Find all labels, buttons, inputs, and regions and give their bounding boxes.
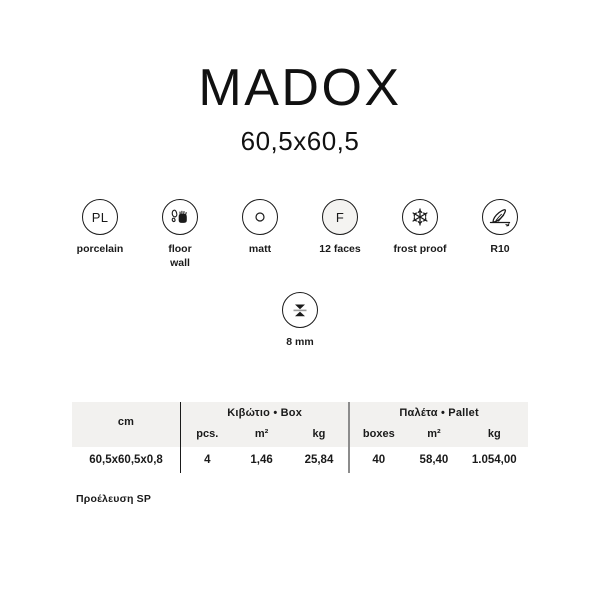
product-header: MADOX 60,5x60,5 (0, 0, 600, 157)
feature-icon-row: PL porcelain floor wall matt F 12 faces (0, 199, 600, 270)
thickness-icon-row: 8 mm (0, 292, 600, 349)
faces-f-glyph: F (336, 211, 344, 224)
page-title: MADOX (0, 62, 600, 114)
column-header-pallet-kg: kg (461, 424, 528, 447)
feature-label: porcelain (77, 242, 124, 256)
feature-r10: R10 (469, 199, 531, 256)
cell-pallet-m2: 58,40 (407, 447, 460, 473)
feature-floor-wall: floor wall (149, 199, 211, 270)
porcelain-pl-glyph: PL (92, 211, 109, 224)
specification-table: cm Κιβώτιο • Box Παλέτα • Pallet pcs. m²… (72, 402, 528, 473)
feature-label: R10 (490, 242, 509, 256)
column-header-box-pcs: pcs. (181, 424, 234, 447)
table-group-header-row: cm Κιβώτιο • Box Παλέτα • Pallet (72, 402, 528, 424)
feature-frost-proof: frost proof (389, 199, 451, 256)
cell-box-kg: 25,84 (290, 447, 350, 473)
feature-thickness: 8 mm (269, 292, 331, 349)
floor-wall-icon (162, 199, 198, 235)
porcelain-pl-icon: PL (82, 199, 118, 235)
thickness-label: 8 mm (286, 335, 313, 349)
cell-box-m2: 1,46 (234, 447, 290, 473)
feature-label: floor wall (168, 242, 191, 270)
thickness-icon (282, 292, 318, 328)
column-header-pallet-boxes: boxes (349, 424, 407, 447)
column-group-pallet: Παλέτα • Pallet (349, 402, 528, 424)
origin-note: Προέλευση SP (76, 493, 151, 505)
cell-pallet-boxes: 40 (349, 447, 407, 473)
frost-proof-snowflake-icon (402, 199, 438, 235)
feature-matt: matt (229, 199, 291, 256)
column-header-cm: cm (72, 402, 181, 447)
feature-porcelain: PL porcelain (69, 199, 131, 256)
matt-finish-icon (242, 199, 278, 235)
product-size: 60,5x60,5 (0, 126, 600, 157)
feature-12-faces: F 12 faces (309, 199, 371, 256)
cell-cm: 60,5x60,5x0,8 (72, 447, 181, 473)
feature-label: matt (249, 242, 271, 256)
faces-f-icon: F (322, 199, 358, 235)
feature-label: frost proof (393, 242, 446, 256)
cell-box-pcs: 4 (181, 447, 234, 473)
column-group-box: Κιβώτιο • Box (181, 402, 350, 424)
feature-label: 12 faces (319, 242, 360, 256)
cell-pallet-kg: 1.054,00 (461, 447, 528, 473)
table-row: 60,5x60,5x0,8 4 1,46 25,84 40 58,40 1.05… (72, 447, 528, 473)
column-header-box-kg: kg (290, 424, 350, 447)
column-header-box-m2: m² (234, 424, 290, 447)
slip-resistance-r10-icon (482, 199, 518, 235)
column-header-pallet-m2: m² (407, 424, 460, 447)
